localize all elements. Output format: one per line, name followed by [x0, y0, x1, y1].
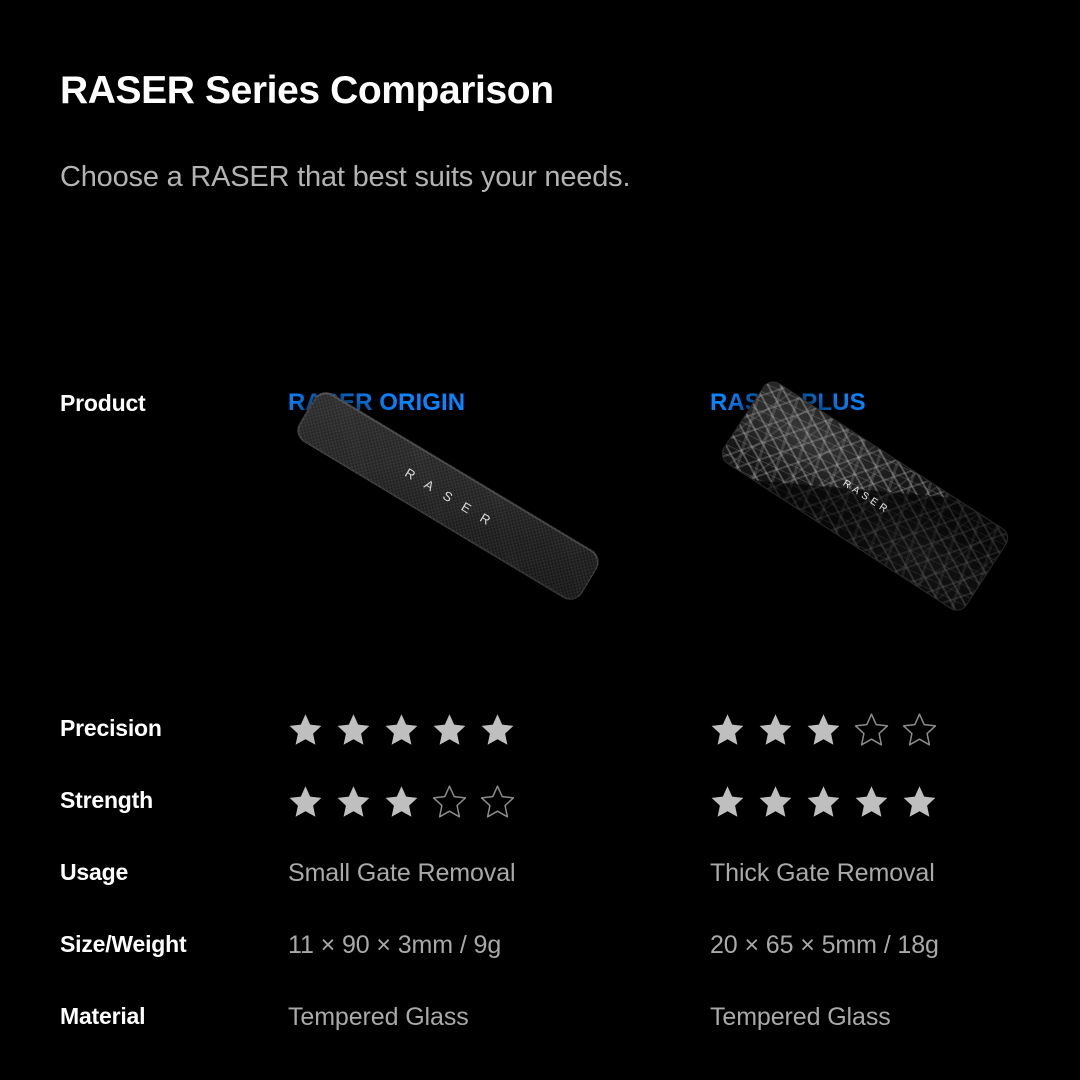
star-filled-icon [806, 712, 841, 747]
star-filled-icon [480, 712, 515, 747]
table-header-product: Product [60, 386, 280, 420]
comparison-page: RASER Series Comparison Choose a RASER t… [0, 0, 1080, 1080]
star-filled-icon [710, 712, 745, 747]
row-value-material-plus: Tempered Glass [710, 999, 1070, 1035]
star-filled-icon [854, 784, 889, 819]
product-stage-origin: RASER [288, 440, 688, 690]
row-value-usage-plus: Thick Gate Removal [710, 855, 1070, 891]
star-empty-icon [854, 712, 889, 747]
star-filled-icon [288, 784, 323, 819]
row-value-size-weight-origin: 11 × 90 × 3mm / 9g [288, 927, 688, 963]
product-image-origin[interactable]: RASER [288, 440, 688, 690]
row-value-material-origin: Tempered Glass [288, 999, 688, 1035]
star-filled-icon [710, 784, 745, 819]
origin-brand-mark: RASER [392, 458, 505, 534]
row-value-usage-origin: Small Gate Removal [288, 855, 688, 891]
row-label-material: Material [60, 999, 280, 1035]
row-label-usage: Usage [60, 855, 280, 891]
star-filled-icon [758, 784, 793, 819]
star-empty-icon [432, 784, 467, 819]
comparison-table: Product RASER ORIGIN RASER PLUS RASER RA… [0, 0, 1080, 1080]
product-image-plus[interactable]: RASER [710, 440, 1070, 690]
star-filled-icon [336, 784, 371, 819]
star-empty-icon [480, 784, 515, 819]
rating-precision-plus [710, 711, 1070, 747]
star-filled-icon [902, 784, 937, 819]
rating-precision-origin [288, 711, 688, 747]
star-filled-icon [758, 712, 793, 747]
star-filled-icon [806, 784, 841, 819]
row-label-precision: Precision [60, 711, 280, 747]
star-filled-icon [432, 712, 467, 747]
star-empty-icon [902, 712, 937, 747]
star-filled-icon [384, 784, 419, 819]
product-stage-plus: RASER [710, 440, 1070, 690]
row-label-strength: Strength [60, 783, 280, 819]
row-value-size-weight-plus: 20 × 65 × 5mm / 18g [710, 927, 1070, 963]
row-label-size-weight: Size/Weight [60, 927, 280, 963]
rating-strength-plus [710, 783, 1070, 819]
star-filled-icon [336, 712, 371, 747]
star-filled-icon [288, 712, 323, 747]
star-filled-icon [384, 712, 419, 747]
rating-strength-origin [288, 783, 688, 819]
